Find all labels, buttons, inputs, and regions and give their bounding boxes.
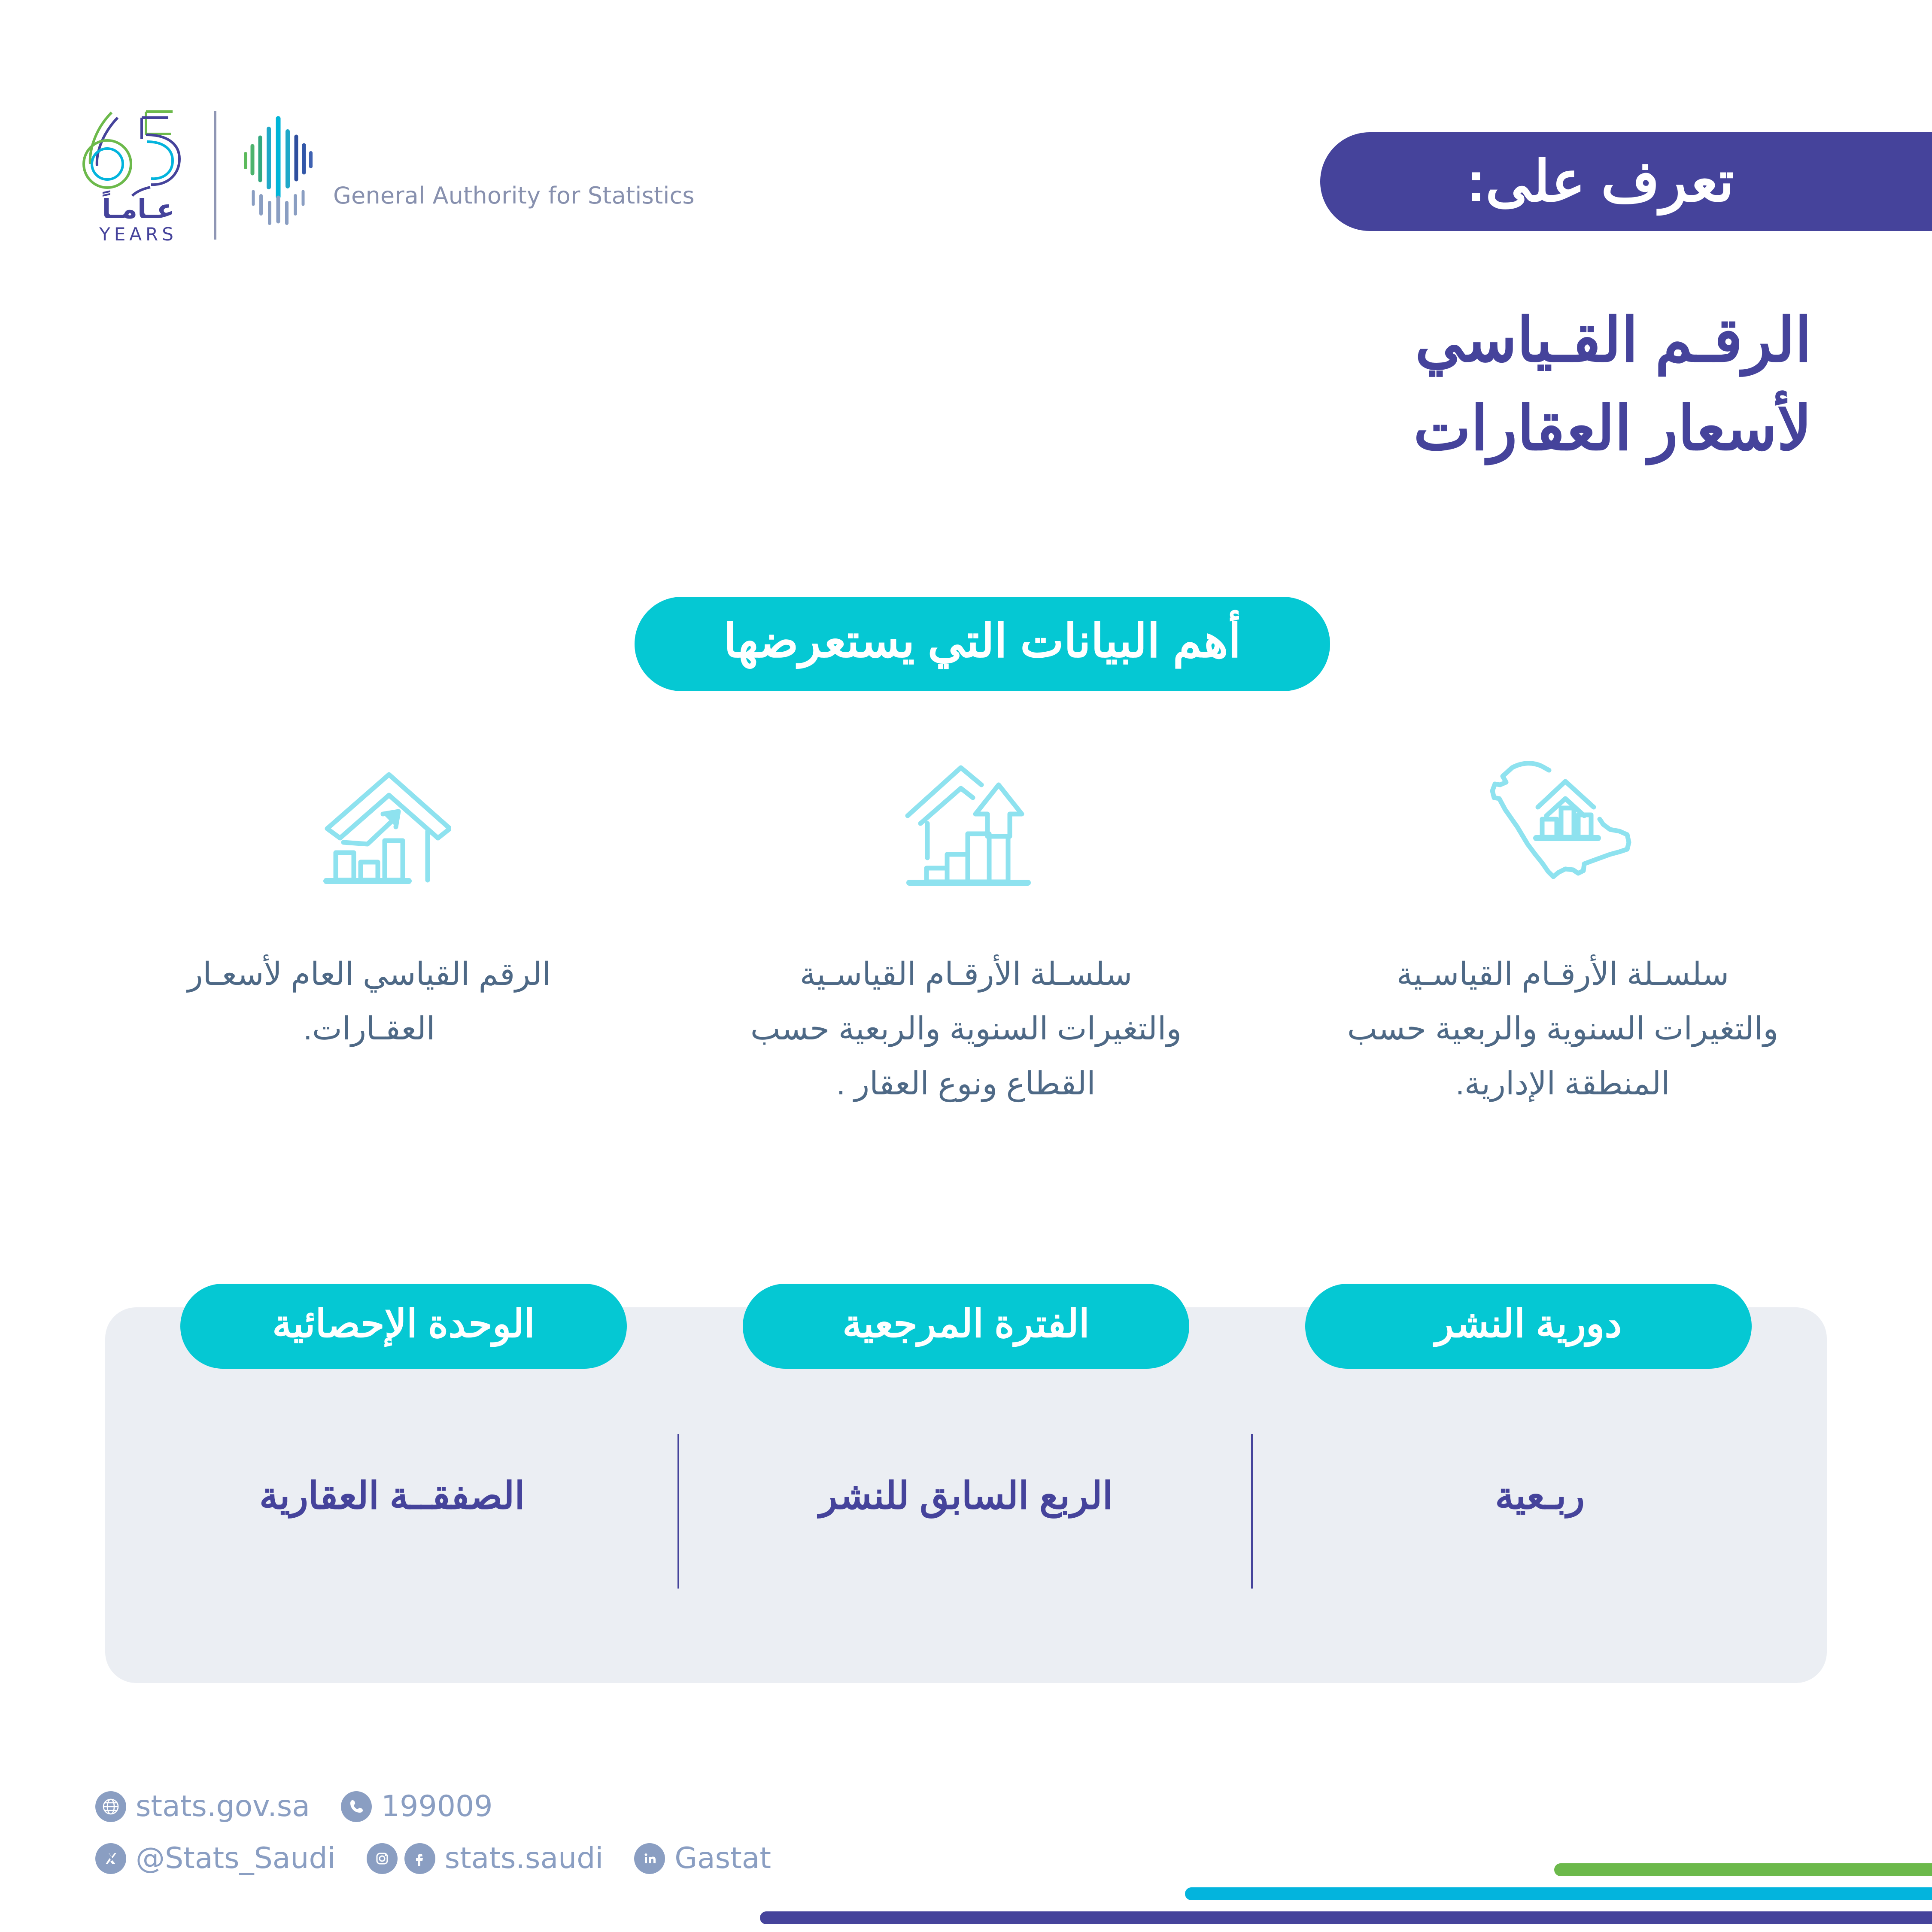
globe-icon	[95, 1791, 126, 1822]
anniversary-65-logo: عـامـاً YEARS	[82, 103, 195, 247]
info-value: الصفقــة العقارية	[259, 1477, 525, 1515]
footer-bar-green	[1554, 1863, 1932, 1876]
linkedin-icon	[634, 1843, 665, 1874]
feature-text: سلسـلة الأرقـام القياسـية والتغيرات السن…	[741, 947, 1191, 1111]
info-pill-reference-period: الفترة المرجعية	[743, 1284, 1189, 1369]
top-banner: تعرف على:	[1320, 132, 1932, 231]
house-bars-up-arrow-icon	[880, 747, 1052, 889]
footer-social-stats-saudi[interactable]: stats.saudi	[367, 1841, 604, 1875]
footer-website[interactable]: stats.gov.sa	[95, 1789, 310, 1823]
info-pill-publication-frequency: دورية النشر	[1305, 1284, 1752, 1369]
logo-divider	[214, 111, 216, 240]
page-title-line-2: لأسعار العقارات	[1121, 385, 1812, 473]
header-logo-group: عـامـاً YEARS	[82, 103, 695, 247]
footer-row: @Stats_Saudi st	[95, 1841, 802, 1875]
saudi-map-house-bars-icon	[1477, 747, 1649, 889]
features-row: سلسـلة الأرقـام القياسـية والتغيرات السن…	[0, 747, 1932, 1111]
instagram-icon	[367, 1843, 398, 1874]
footer-x-twitter[interactable]: @Stats_Saudi	[95, 1841, 336, 1875]
footer-bar-cyan	[1185, 1887, 1932, 1900]
gastat-name-arabic-svg: الـهـيـئـة الـعـامـة للإحـصـاء	[333, 141, 617, 174]
feature-text: سلسـلة الأرقـام القياسـية والتغيرات السن…	[1337, 947, 1788, 1111]
footer-x-label: @Stats_Saudi	[136, 1841, 336, 1875]
footer-bar-purple	[760, 1911, 1932, 1924]
footer-phone[interactable]: 199009	[341, 1789, 493, 1823]
info-value-cell: ربـعية	[1253, 1451, 1827, 1623]
footer-website-label: stats.gov.sa	[136, 1789, 310, 1823]
section-header-label: أهم البيانات التي يستعرضها	[723, 618, 1241, 670]
top-banner-label: تعرف على:	[1320, 153, 1932, 210]
info-value: ربـعية	[1495, 1477, 1585, 1515]
infographic-page: عـامـاً YEARS	[0, 0, 1932, 1932]
info-pill-label: دورية النشر	[1435, 1305, 1622, 1348]
info-value-cell: الصفقــة العقارية	[105, 1451, 679, 1623]
svg-text:عـامـاً: عـامـاً	[102, 190, 175, 225]
house-roof-trend-arrow-icon	[283, 747, 455, 889]
footer-social-label: stats.saudi	[445, 1841, 604, 1875]
info-pill-statistical-unit: الوحدة الإحصائية	[180, 1284, 627, 1369]
footer-decorative-bars	[730, 1863, 1932, 1932]
gastat-palm-mark	[235, 111, 321, 240]
page-title-line-1: الرقـم القـياسي	[1121, 296, 1812, 385]
gastat-name-english: General Authority for Statistics	[333, 182, 695, 209]
gastat-logo: الـهـيـئـة الـعـامـة للإحـصـاء General A…	[235, 111, 695, 240]
phone-icon	[341, 1791, 372, 1822]
x-twitter-icon	[95, 1843, 126, 1874]
page-title: الرقـم القـياسي لأسعار العقارات	[1121, 296, 1850, 473]
feature-item: سلسـلة الأرقـام القياسـية والتغيرات السن…	[1301, 747, 1825, 1111]
info-pill-label: الفترة المرجعية	[842, 1305, 1090, 1348]
svg-text:YEARS: YEARS	[99, 224, 177, 245]
footer-contacts: stats.gov.sa 199009 @Stats_Saudi	[95, 1789, 802, 1875]
footer-phone-label: 199009	[381, 1789, 493, 1823]
facebook-icon	[404, 1843, 435, 1874]
section-header-pill: أهم البيانات التي يستعرضها	[635, 597, 1330, 691]
info-values-row: ربـعية الربع السابق للنشر الصفقــة العقا…	[105, 1451, 1827, 1623]
footer-row: stats.gov.sa 199009	[95, 1789, 802, 1823]
info-value-cell: الربع السابق للنشر	[679, 1451, 1253, 1623]
feature-item: الرقم القياسي العام لأسعـار العقـارات.	[107, 747, 631, 1111]
info-pill-label: الوحدة الإحصائية	[272, 1305, 535, 1348]
info-value: الربع السابق للنشر	[819, 1477, 1113, 1515]
info-pills-row: دورية النشر الفترة المرجعية الوحدة الإحص…	[0, 1284, 1932, 1369]
feature-text: الرقم القياسي العام لأسعـار العقـارات.	[144, 947, 595, 1056]
anniversary-65-mark: عـامـاً YEARS	[82, 103, 195, 245]
feature-item: سلسـلة الأرقـام القياسـية والتغيرات السن…	[704, 747, 1228, 1111]
